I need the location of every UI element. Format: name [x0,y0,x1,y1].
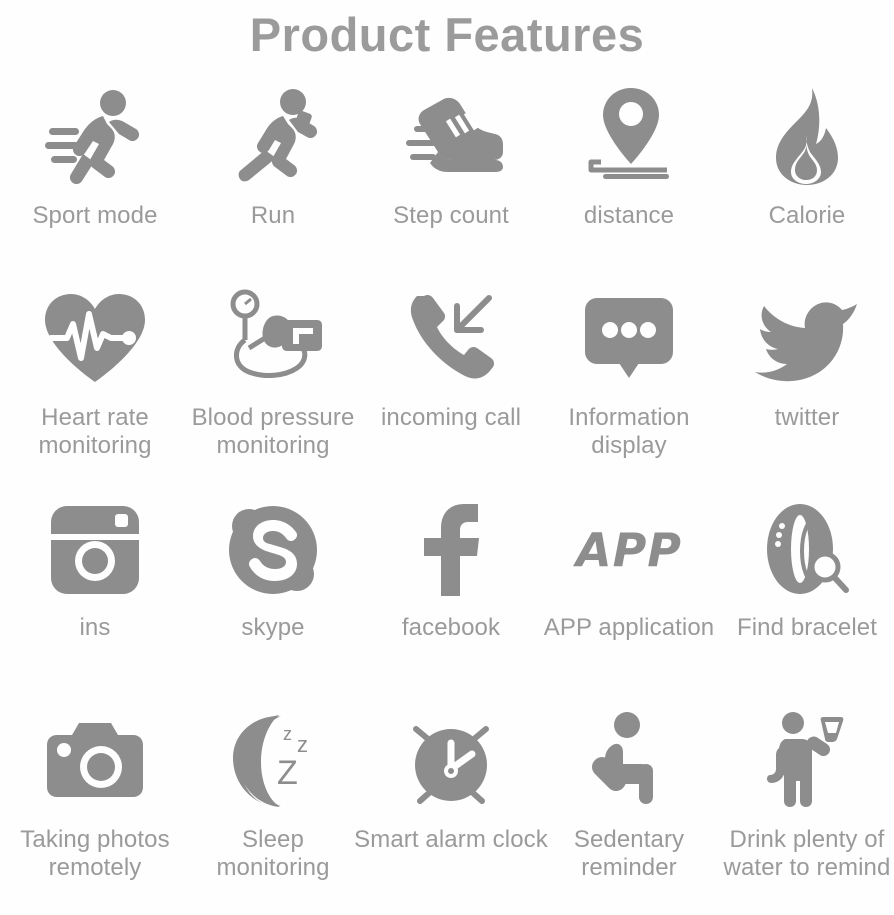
svg-text:z: z [283,724,292,744]
feature-label: incoming call [356,404,546,432]
running-figure-icon [221,66,325,192]
app-text-icon: APP [576,486,682,604]
twitter-bird-icon [753,268,861,394]
feature-item-heart-rate: Heart rate monitoring [6,268,184,460]
feature-label: distance [534,202,724,230]
features-grid: Sport mode Run [0,66,894,915]
feature-item-step-count: Step count [362,66,540,230]
feature-item-incoming-call: incoming call [362,268,540,432]
skype-logo-icon [225,486,321,604]
feature-label: Blood pressure monitoring [178,404,368,460]
feature-label: Smart alarm clock [351,826,551,854]
blood-pressure-cuff-icon [219,268,327,394]
feature-label: twitter [712,404,894,432]
feature-item-app-application: APP APP application [540,486,718,642]
feature-label: Drink plenty of water to remind [707,826,894,882]
heart-ecg-icon [41,268,149,394]
product-features-infographic: Product Features Sport mode [0,0,894,915]
speech-bubble-dots-icon [581,268,677,394]
bracelet-magnifier-icon [762,486,852,604]
feature-label: Sleep monitoring [178,826,368,882]
camera-icon [45,686,145,816]
feature-row: Taking photos remotely z z Z Sleep monit… [0,686,894,901]
feature-row: Heart rate monitoring Blood press [0,268,894,486]
feature-label: Heart rate monitoring [0,404,190,460]
svg-text:Z: Z [277,754,298,792]
feature-label: Calorie [712,202,894,230]
seated-person-icon [589,686,669,816]
incoming-call-handset-icon [401,268,501,394]
feature-item-twitter: twitter [718,268,894,432]
crescent-moon-zzz-icon: z z Z [223,686,323,816]
running-figure-speedlines-icon [41,66,149,192]
flame-icon [766,66,848,192]
feature-item-skype: skype [184,486,362,642]
feature-item-taking-photos: Taking photos remotely [6,686,184,882]
person-drinking-icon [767,686,847,816]
feature-item-smart-alarm-clock: Smart alarm clock [362,686,540,854]
map-pin-road-icon [579,66,679,192]
feature-item-blood-pressure: Blood pressure monitoring [184,268,362,460]
feature-row: ins skype [0,486,894,686]
instagram-camera-icon [49,486,141,604]
feature-label: Sedentary reminder [534,826,724,882]
sneaker-shoe-icon [396,66,506,192]
feature-item-facebook: facebook [362,486,540,642]
feature-row: Sport mode Run [0,66,894,268]
facebook-f-icon [420,486,482,604]
feature-item-sport-mode: Sport mode [6,66,184,230]
svg-text:z: z [297,732,308,757]
feature-label: Find bracelet [707,614,894,642]
app-text-glyph: APP [576,523,682,577]
page-title: Product Features [0,4,894,66]
feature-item-sleep-monitoring: z z Z Sleep monitoring [184,686,362,882]
alarm-clock-icon [404,686,498,816]
feature-label: APP application [529,614,729,642]
feature-label: Information display [534,404,724,460]
feature-item-find-bracelet: Find bracelet [718,486,894,642]
feature-label: Sport mode [0,202,190,230]
feature-label: Taking photos remotely [0,826,190,882]
feature-item-ins: ins [6,486,184,642]
feature-label: ins [0,614,190,642]
feature-label: skype [178,614,368,642]
feature-item-sedentary-reminder: Sedentary reminder [540,686,718,882]
feature-item-calorie: Calorie [718,66,894,230]
feature-item-run: Run [184,66,362,230]
feature-label: facebook [356,614,546,642]
feature-item-information-display: Information display [540,268,718,460]
feature-item-distance: distance [540,66,718,230]
feature-item-drink-water: Drink plenty of water to remind [718,686,894,882]
feature-label: Step count [356,202,546,230]
feature-label: Run [178,202,368,230]
